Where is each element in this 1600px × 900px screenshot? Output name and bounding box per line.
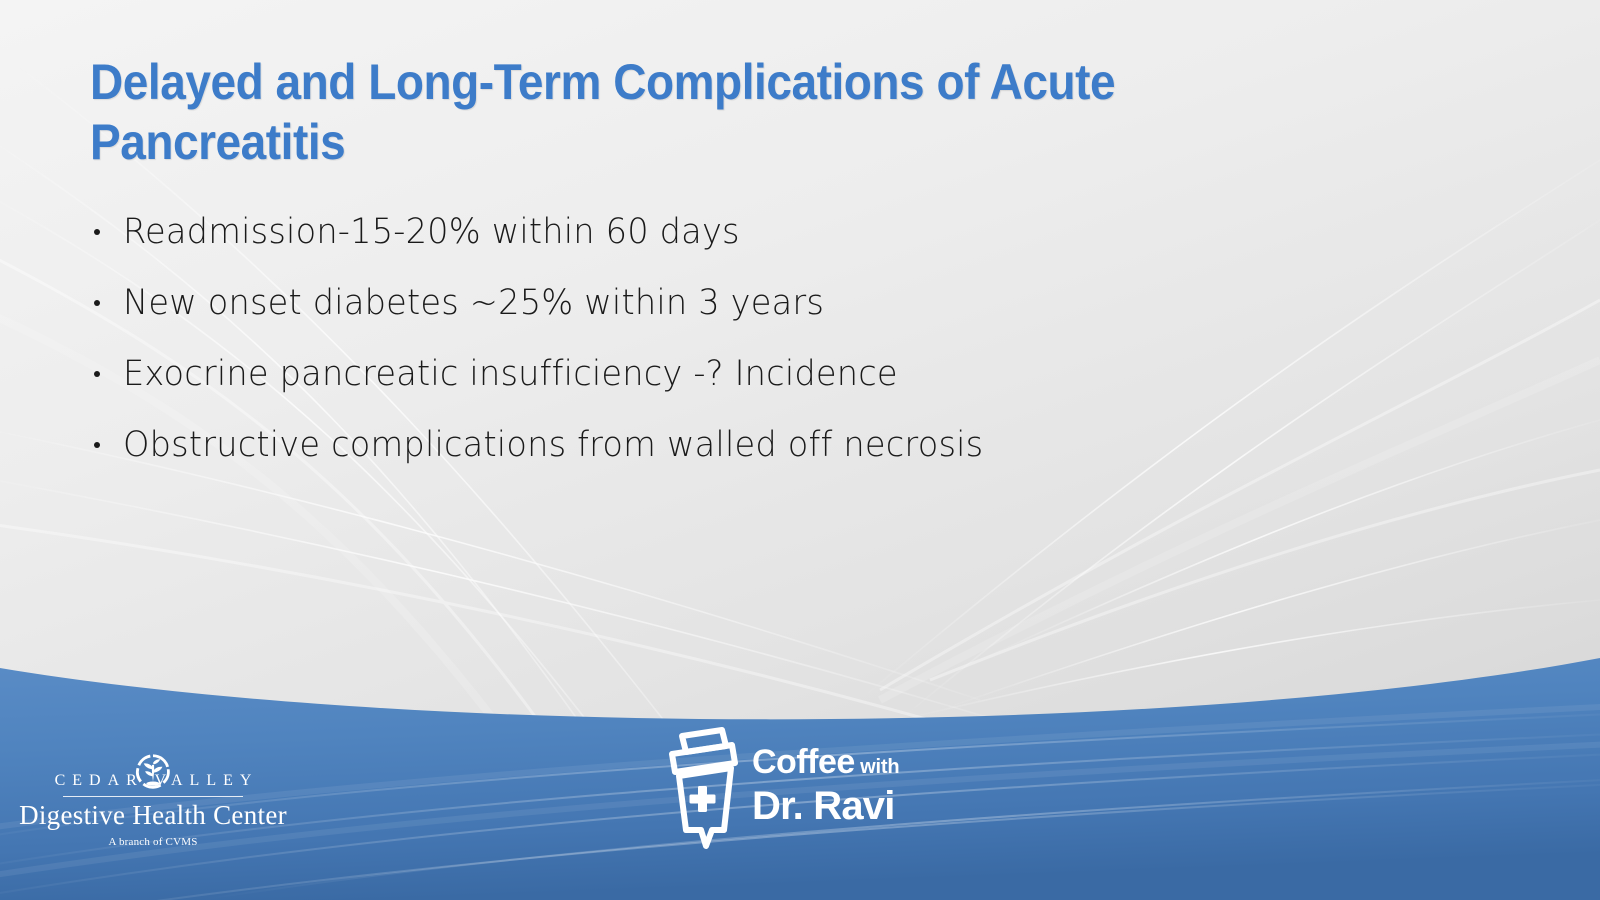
with-label: with bbox=[855, 756, 900, 778]
bullet-item: Obstructive complications from walled of… bbox=[90, 409, 1510, 480]
coffee-wordmark: Coffee with Dr. Ravi bbox=[752, 744, 932, 827]
cedar-valley-wordmark-top: CEDAR VALLEY bbox=[18, 772, 288, 790]
bullet-item: Readmission-15-20% within 60 days bbox=[90, 196, 1510, 267]
coffee-wordmark-line2: Dr. Ravi bbox=[752, 785, 932, 827]
bullet-dot-icon bbox=[94, 371, 100, 377]
bullet-item: New onset diabetes ~25% within 3 years bbox=[90, 267, 1510, 338]
bullet-dot-icon bbox=[94, 300, 100, 306]
coffee-cup-medical-cross-icon bbox=[660, 726, 746, 852]
bullet-text: Readmission-15-20% within 60 days bbox=[123, 212, 740, 252]
coffee-wordmark-line1: Coffee with bbox=[752, 744, 932, 785]
bullet-list: Readmission-15-20% within 60 days New on… bbox=[90, 196, 1510, 480]
bullet-item: Exocrine pancreatic insufficiency -? Inc… bbox=[90, 338, 1510, 409]
cedar-valley-logo: CEDAR VALLEY Digestive Health Center A b… bbox=[18, 752, 288, 867]
coffee-label: Coffee bbox=[752, 743, 855, 781]
coffee-with-dr-ravi-logo: Coffee with Dr. Ravi bbox=[660, 726, 920, 852]
bullet-dot-icon bbox=[94, 442, 100, 448]
bullet-text: Exocrine pancreatic insufficiency -? Inc… bbox=[123, 354, 898, 394]
slide-canvas: Delayed and Long-Term Complications of A… bbox=[0, 0, 1600, 900]
slide-title: Delayed and Long-Term Complications of A… bbox=[90, 52, 1378, 172]
cedar-valley-tagline: A branch of CVMS bbox=[18, 836, 288, 848]
bullet-text: New onset diabetes ~25% within 3 years bbox=[123, 283, 824, 323]
bullet-text: Obstructive complications from walled of… bbox=[123, 425, 983, 465]
cedar-valley-divider bbox=[63, 796, 243, 797]
cedar-valley-wordmark-main: Digestive Health Center bbox=[18, 800, 288, 831]
bullet-dot-icon bbox=[94, 229, 100, 235]
